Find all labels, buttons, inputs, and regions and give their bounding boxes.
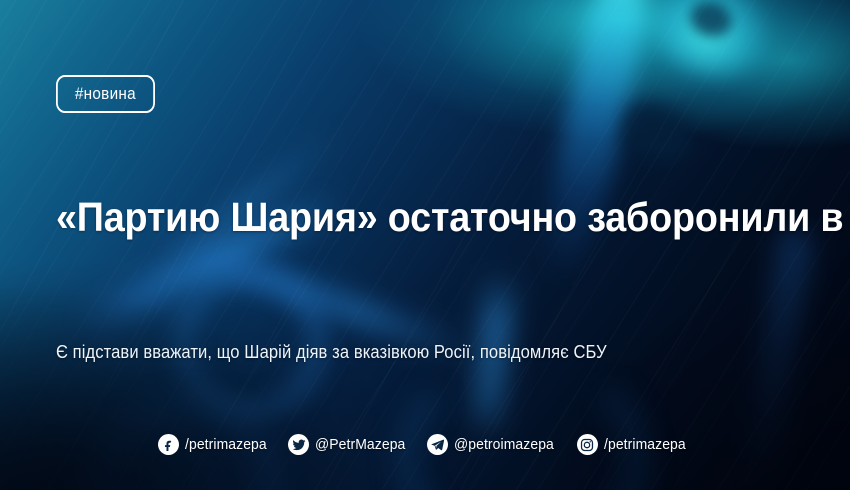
facebook-icon (158, 434, 179, 455)
news-card: #новина «Партию Шария» остаточно заборон… (0, 0, 850, 490)
social-handle-telegram: @petroimazepa (454, 436, 554, 453)
tag-badge-label: #новина (75, 84, 136, 104)
social-handle-twitter: @PetrMazepa (315, 436, 405, 453)
telegram-icon (427, 434, 448, 455)
social-link-twitter[interactable]: @PetrMazepa (288, 434, 412, 455)
social-link-telegram[interactable]: @petroimazepa (427, 434, 561, 455)
social-handle-facebook: /petrimazepa (185, 436, 267, 453)
twitter-icon (288, 434, 309, 455)
tag-badge-novyna[interactable]: #новина (56, 75, 155, 113)
social-link-instagram[interactable]: /petrimazepa (577, 434, 692, 455)
social-links-row: /petrimazepa @PetrMazepa @petroimazepa (0, 434, 850, 455)
subtitle-text: Є підстави вважати, що Шарій діяв за вка… (56, 341, 737, 363)
card-content: #новина «Партию Шария» остаточно заборон… (0, 0, 850, 490)
social-handle-instagram: /petrimazepa (604, 436, 686, 453)
page-title: «Партию Шария» остаточно заборонили в Ук… (56, 194, 755, 240)
social-link-facebook[interactable]: /petrimazepa (158, 434, 273, 455)
instagram-icon (577, 434, 598, 455)
